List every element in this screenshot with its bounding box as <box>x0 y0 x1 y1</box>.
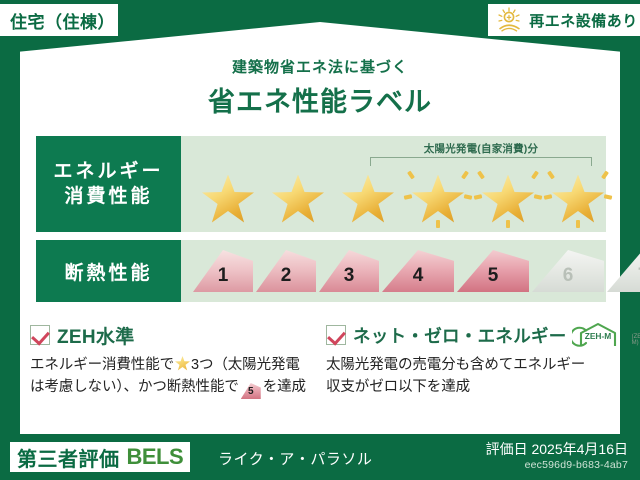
energy-key-line2: 消費性能 <box>64 184 152 209</box>
insulation-grade-6: 6 <box>532 250 604 292</box>
solar-sun-icon <box>496 7 524 33</box>
zeh-m-logo-subtext: (ZEH-M) <box>632 334 640 346</box>
nze-desc-part1: 太陽光発電の売電分も含めてエネルギー <box>326 357 585 373</box>
title-main: 省エネ性能ラベル <box>20 80 620 119</box>
insulation-grade-1: 1 <box>193 250 253 292</box>
star-2 <box>265 169 331 227</box>
sparkle-mark <box>534 194 543 200</box>
energy-star-rating <box>181 166 606 229</box>
insulation-key-label: 断熱性能 <box>64 258 152 285</box>
star-icon <box>482 175 534 225</box>
sparkle-mark <box>474 194 483 200</box>
sparkle-mark <box>477 170 485 179</box>
bels-jp-label: 第三者評価 <box>17 443 120 472</box>
renewable-badge-label: 再エネ設備あり <box>529 10 638 31</box>
solar-bracket-annotation: 太陽光発電(自家消費)分 <box>370 142 592 168</box>
feature-nze-title: ネット・ゼロ・エネルギー <box>353 323 567 348</box>
title-subtitle: 建築物省エネ法に基づく <box>20 56 620 77</box>
star-6-solar <box>545 169 611 227</box>
zeh-m-house-logo-icon: ZEH-M <box>572 322 624 348</box>
star-3 <box>335 169 401 227</box>
building-type-label: 住宅（住棟） <box>10 8 115 33</box>
star-icon <box>552 175 604 225</box>
star-4-solar <box>405 169 471 227</box>
star-icon <box>412 175 464 225</box>
evaluation-id: eec596d9-b683-4ab7 <box>525 459 628 471</box>
insulation-performance-key: 断熱性能 <box>36 240 181 302</box>
insulation-grade-5: 5 <box>457 250 529 292</box>
energy-performance-key: エネルギー 消費性能 <box>36 136 181 232</box>
zeh-desc-part3: を達成 <box>263 379 306 395</box>
grade-value: 4 <box>413 265 424 287</box>
energy-performance-value: 太陽光発電(自家消費)分 <box>181 136 606 232</box>
grade-value: 1 <box>218 265 229 287</box>
sparkle-mark <box>407 170 415 179</box>
sparkle-mark <box>506 220 510 228</box>
label-footer: 第三者評価 BELS ライク・ア・パラソル 評価日 2025年4月16日 eec… <box>0 434 640 480</box>
insulation-grade-scale: 1 2 3 4 5 6 7 <box>181 240 606 302</box>
insulation-grade-2: 2 <box>256 250 316 292</box>
zeh-desc-part2: は考慮しない）、かつ断熱性能で <box>30 379 239 395</box>
grade-value: 3 <box>344 265 355 287</box>
insulation-grade-3: 3 <box>319 250 379 292</box>
grade-value: 2 <box>281 265 292 287</box>
sparkle-mark <box>404 194 413 200</box>
insulation-performance-value: 1 2 3 4 5 6 7 <box>181 240 606 302</box>
insulation-performance-row: 断熱性能 1 2 3 4 5 6 7 <box>36 240 606 302</box>
company-name: ライク・ア・パラソル <box>218 448 372 469</box>
inline-grade-badge: 5 <box>241 383 261 399</box>
bels-certification-badge: 第三者評価 BELS <box>10 442 190 472</box>
evaluation-date: 評価日 2025年4月16日 <box>486 439 628 459</box>
svg-text:ZEH-M: ZEH-M <box>584 331 611 341</box>
checkmark-icon <box>30 325 50 345</box>
sparkle-mark <box>547 170 555 179</box>
building-type-badge: 住宅（住棟） <box>0 4 118 36</box>
sparkle-mark <box>436 220 440 228</box>
feature-zeh-description: エネルギー消費性能で3つ（太陽光発電 は考慮しない）、かつ断熱性能で5を達成 <box>30 354 310 399</box>
feature-zeh-title: ZEH水準 <box>57 322 135 349</box>
energy-key-line1: エネルギー <box>53 159 163 184</box>
sparkle-mark <box>576 220 580 228</box>
star-icon <box>342 175 394 225</box>
star-icon <box>272 175 324 225</box>
sparkle-mark <box>531 170 539 179</box>
bels-en-label: BELS <box>127 444 184 470</box>
zeh-desc-star: 3つ（太陽光発電 <box>191 357 300 373</box>
sparkle-mark <box>601 170 609 179</box>
star-5-solar <box>475 169 541 227</box>
grade-value: 6 <box>563 265 574 287</box>
feature-zeh-standard: ZEH水準 エネルギー消費性能で3つ（太陽光発電 は考慮しない）、かつ断熱性能で… <box>30 322 310 399</box>
grade-value: 5 <box>488 265 499 287</box>
checkmark-icon <box>326 325 346 345</box>
sparkle-mark <box>461 170 469 179</box>
energy-performance-row: エネルギー 消費性能 太陽光発電(自家消費)分 <box>36 136 606 232</box>
star-icon <box>202 175 254 225</box>
feature-zeh-header: ZEH水準 <box>30 322 310 348</box>
solar-bracket-line <box>370 157 592 166</box>
solar-bracket-label: 太陽光発電(自家消費)分 <box>370 141 592 156</box>
page-title: 建築物省エネ法に基づく 省エネ性能ラベル <box>20 56 620 119</box>
feature-net-zero-energy: ネット・ゼロ・エネルギー ZEH-M (ZEH-M) 太陽光発電の売電分も含めて… <box>326 322 606 398</box>
zeh-desc-part1: エネルギー消費性能で <box>30 357 174 373</box>
energy-performance-label: 住宅（住棟） 再エネ設備あり <box>0 0 640 480</box>
sparkle-mark <box>464 194 473 200</box>
insulation-grade-4: 4 <box>382 250 454 292</box>
sparkle-mark <box>544 194 553 200</box>
inline-star-icon <box>175 356 190 371</box>
renewable-equipment-badge: 再エネ設備あり <box>488 4 640 36</box>
nze-desc-part2: 収支がゼロ以下を達成 <box>326 379 470 395</box>
feature-nze-header: ネット・ゼロ・エネルギー ZEH-M (ZEH-M) <box>326 322 606 348</box>
feature-nze-description: 太陽光発電の売電分も含めてエネルギー 収支がゼロ以下を達成 <box>326 354 606 398</box>
star-1 <box>195 169 261 227</box>
